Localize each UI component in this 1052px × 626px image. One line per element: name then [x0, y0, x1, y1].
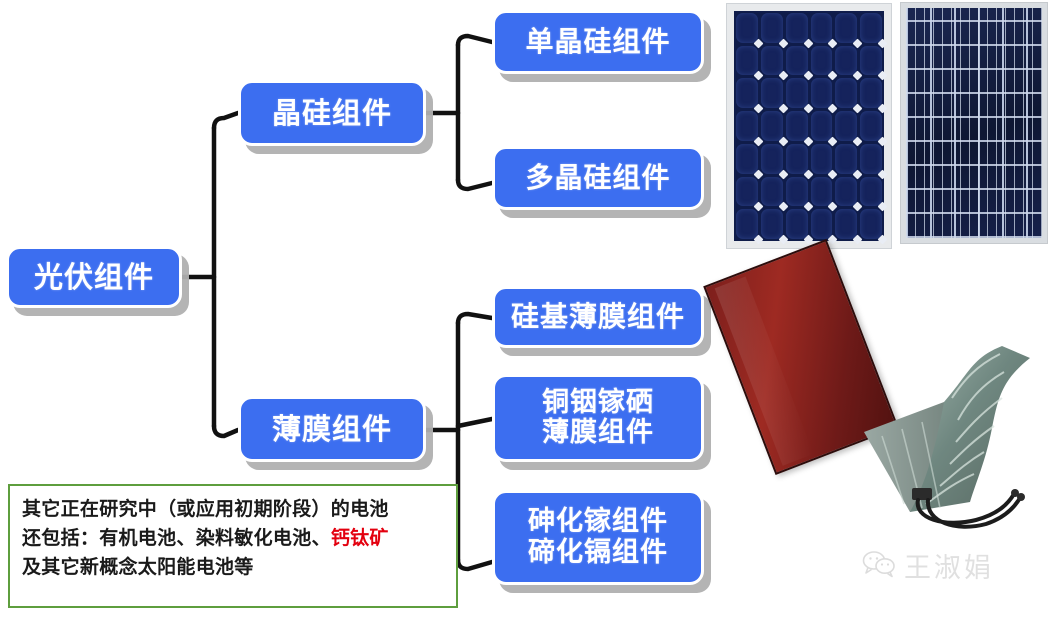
node-label: 晶硅组件	[272, 97, 392, 129]
node-label-line1: 砷化镓组件	[528, 507, 668, 537]
node-silicon-based-thin-film-module[interactable]: 硅基薄膜组件	[492, 286, 704, 348]
node-crystalline-silicon-module[interactable]: 晶硅组件	[238, 80, 426, 146]
edge-cryst-to-poly	[458, 180, 492, 189]
note-line-3: 及其它新概念太阳能电池等	[22, 553, 446, 582]
edge-root-to-crystalline	[214, 113, 238, 128]
node-root-photovoltaic-module[interactable]: 光伏组件	[6, 246, 182, 308]
node-thin-film-module[interactable]: 薄膜组件	[238, 396, 426, 462]
polycrystalline-panel-photo	[900, 2, 1048, 244]
watermark: 王淑娟	[862, 546, 994, 585]
monocrystalline-panel-photo	[726, 3, 892, 249]
node-label: 单晶硅组件	[525, 26, 670, 57]
note-line-1: 其它正在研究中（或应用初期阶段）的电池	[22, 495, 446, 524]
node-gaas-cdte-module[interactable]: 砷化镓组件 碲化镉组件	[492, 490, 704, 585]
node-monocrystalline-silicon-module[interactable]: 单晶硅组件	[492, 10, 704, 74]
node-label-line1: 铜铟镓硒	[542, 388, 654, 418]
note-highlight-perovskite: 钙钛矿	[331, 527, 389, 549]
node-polycrystalline-silicon-module[interactable]: 多晶硅组件	[492, 146, 704, 210]
node-label-line2: 薄膜组件	[542, 418, 654, 448]
edge-thin-to-sithin	[458, 314, 492, 323]
edge-cryst-to-mono	[458, 36, 492, 45]
node-label: 硅基薄膜组件	[511, 301, 685, 332]
flexible-cigs-module-photo	[852, 336, 1048, 532]
note-line-2: 还包括：有机电池、染料敏化电池、钙钛矿	[22, 524, 446, 553]
panel-cell-grid	[734, 11, 884, 241]
node-cigs-thin-film-module[interactable]: 铜铟镓硒 薄膜组件	[492, 374, 704, 462]
diagram-canvas: 光伏组件 晶硅组件 薄膜组件 单晶硅组件 多晶硅组件 硅基薄膜组件 铜铟镓硒 薄…	[0, 0, 1052, 626]
node-label: 薄膜组件	[272, 413, 392, 445]
edge-root-to-thinfilm	[214, 426, 238, 436]
edge-thin-to-cigs	[458, 419, 492, 426]
panel-cell-grid	[906, 8, 1042, 238]
node-label: 多晶硅组件	[525, 162, 670, 193]
note-box-other-cells: 其它正在研究中（或应用初期阶段）的电池 还包括：有机电池、染料敏化电池、钙钛矿 …	[8, 484, 458, 608]
edge-thin-to-gaas	[458, 560, 492, 569]
node-label-line2: 碲化镉组件	[528, 538, 668, 568]
note-line-2-text: 还包括：有机电池、染料敏化电池、	[22, 527, 331, 549]
node-label: 光伏组件	[34, 261, 154, 293]
watermark-name: 王淑娟	[904, 546, 994, 585]
wechat-icon	[862, 549, 896, 583]
